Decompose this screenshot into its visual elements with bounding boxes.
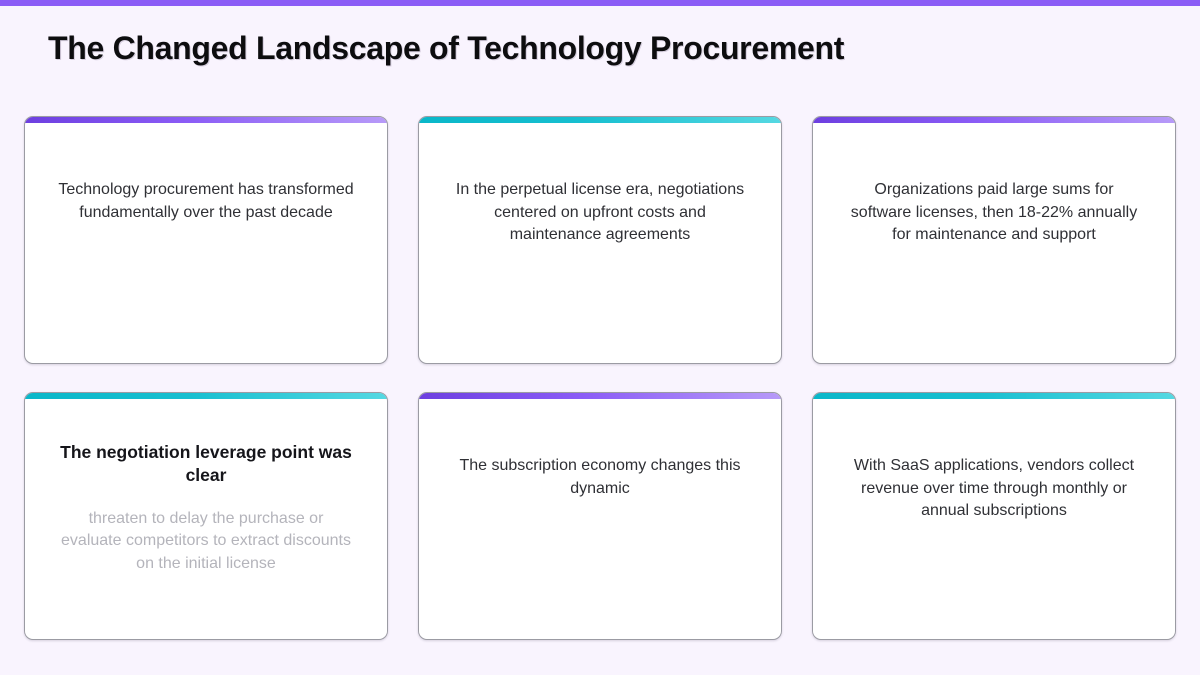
slide-canvas: The Changed Landscape of Technology Proc…: [0, 6, 1200, 675]
card-body: In the perpetual license era, negotiatio…: [419, 123, 781, 247]
card-text: The subscription economy changes this dy…: [452, 455, 748, 500]
page-title: The Changed Landscape of Technology Proc…: [48, 30, 844, 67]
card-text: In the perpetual license era, negotiatio…: [452, 179, 748, 247]
card-body: Organizations paid large sums for softwa…: [813, 123, 1175, 247]
content-card[interactable]: With SaaS applications, vendors collect …: [812, 392, 1176, 640]
content-card[interactable]: In the perpetual license era, negotiatio…: [418, 116, 782, 364]
card-body: Technology procurement has transformed f…: [25, 123, 387, 224]
card-body: The subscription economy changes this dy…: [419, 399, 781, 500]
card-text: With SaaS applications, vendors collect …: [846, 455, 1142, 523]
card-body: With SaaS applications, vendors collect …: [813, 399, 1175, 523]
content-card[interactable]: The negotiation leverage point was clear…: [24, 392, 388, 640]
content-card[interactable]: Technology procurement has transformed f…: [24, 116, 388, 364]
content-card[interactable]: The subscription economy changes this dy…: [418, 392, 782, 640]
card-body: The negotiation leverage point was clear…: [25, 399, 387, 576]
card-heading: The negotiation leverage point was clear: [56, 441, 356, 488]
content-card[interactable]: Organizations paid large sums for softwa…: [812, 116, 1176, 364]
card-text: Technology procurement has transformed f…: [58, 179, 354, 224]
card-text: threaten to delay the purchase or evalua…: [58, 508, 354, 576]
card-text: Organizations paid large sums for softwa…: [846, 179, 1142, 247]
card-grid: Technology procurement has transformed f…: [24, 116, 1176, 640]
